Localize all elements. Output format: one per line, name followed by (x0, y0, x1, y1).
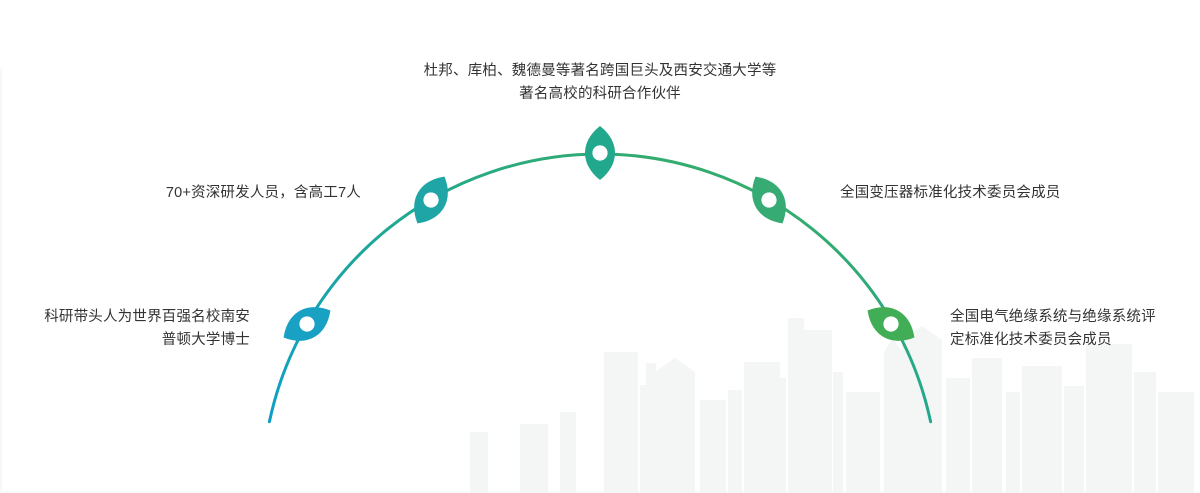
marker-pin-4[interactable] (743, 169, 796, 231)
semicircle-timeline-arc (269, 154, 930, 422)
marker-center-hole (592, 145, 607, 160)
marker-pin-3[interactable] (585, 126, 615, 180)
marker-pin-2[interactable] (405, 169, 458, 231)
infographic-canvas: 科研带头人为世界百强名校南安 普顿大学博士70+资深研发人员，含高工7人杜邦、库… (0, 0, 1200, 493)
marker-pin-5[interactable] (860, 298, 922, 351)
node-label-transformer-committee: 全国变压器标准化技术委员会成员 (840, 182, 1140, 205)
node-label-insulation-committee: 全国电气绝缘系统与绝缘系统评 定标准化技术委员会成员 (950, 306, 1200, 352)
node-label-partners: 杜邦、库柏、魏德曼等著名跨国巨头及西安交通大学等 著名高校的科研合作伙伴 (380, 60, 820, 106)
marker-pin-1[interactable] (276, 298, 338, 351)
node-label-research-leader: 科研带头人为世界百强名校南安 普顿大学博士 (10, 306, 250, 352)
node-label-rd-staff: 70+资深研发人员，含高工7人 (133, 182, 361, 205)
